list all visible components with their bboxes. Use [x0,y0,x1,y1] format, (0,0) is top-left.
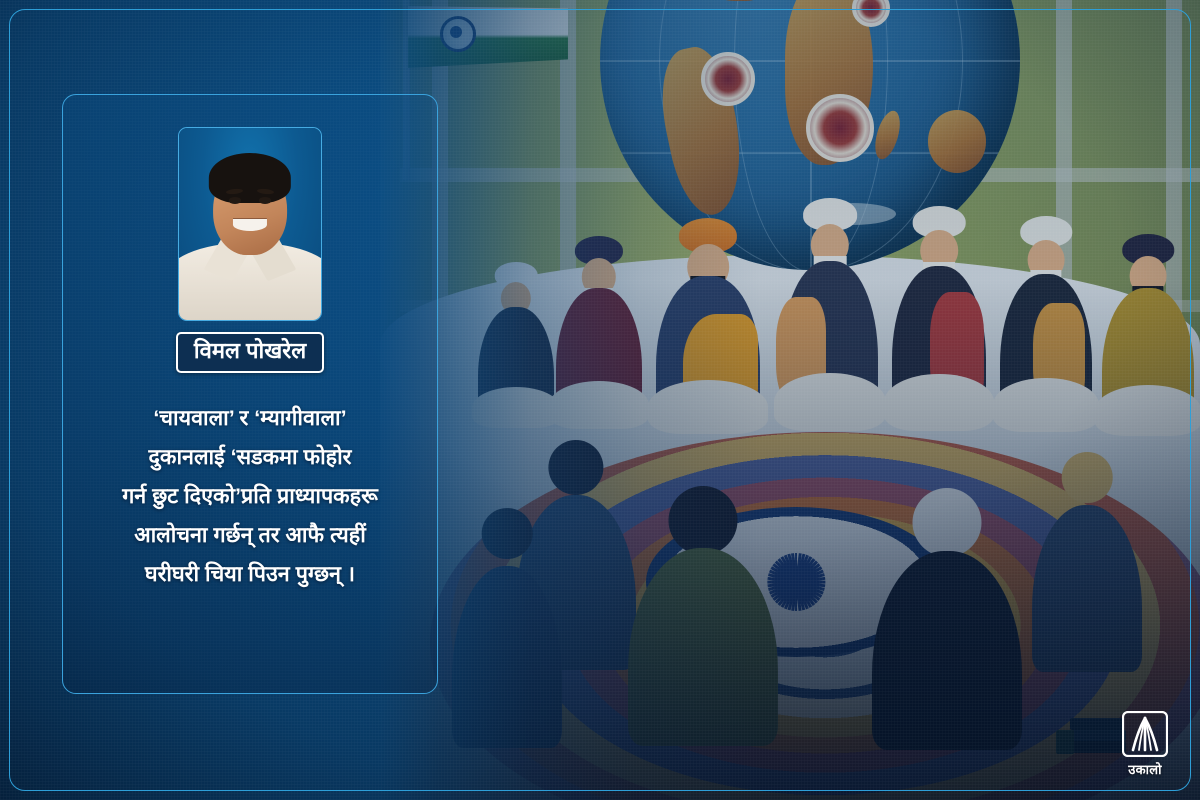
brand-logo: उकालो [1112,711,1178,778]
quote-line: दुकानलाई ‘सडकमा फोहोर [85,438,415,477]
brand-name: उकालो [1112,760,1178,778]
quote-text: ‘चायवाला’ र ‘म्यागीवाला’ दुकानलाई ‘सडकमा… [85,399,415,595]
quote-card-graphic: विमल पोखरेल ‘चायवाला’ र ‘म्यागीवाला’ दुक… [0,0,1200,800]
quote-line: ‘चायवाला’ र ‘म्यागीवाला’ [85,399,415,438]
quote-card: विमल पोखरेल ‘चायवाला’ र ‘म्यागीवाला’ दुक… [62,94,438,694]
quote-line: घरीघरी चिया पिउन पुग्छन् । [85,555,415,594]
author-name-badge: विमल पोखरेल [176,332,324,373]
uphill-path-logo-icon [1122,711,1168,757]
quote-line: गर्न छुट दिएको’प्रति प्राध्यापकहरू [85,477,415,516]
quote-line: आलोचना गर्छन् तर आफै त्यहीं [85,516,415,555]
author-portrait [178,127,322,321]
